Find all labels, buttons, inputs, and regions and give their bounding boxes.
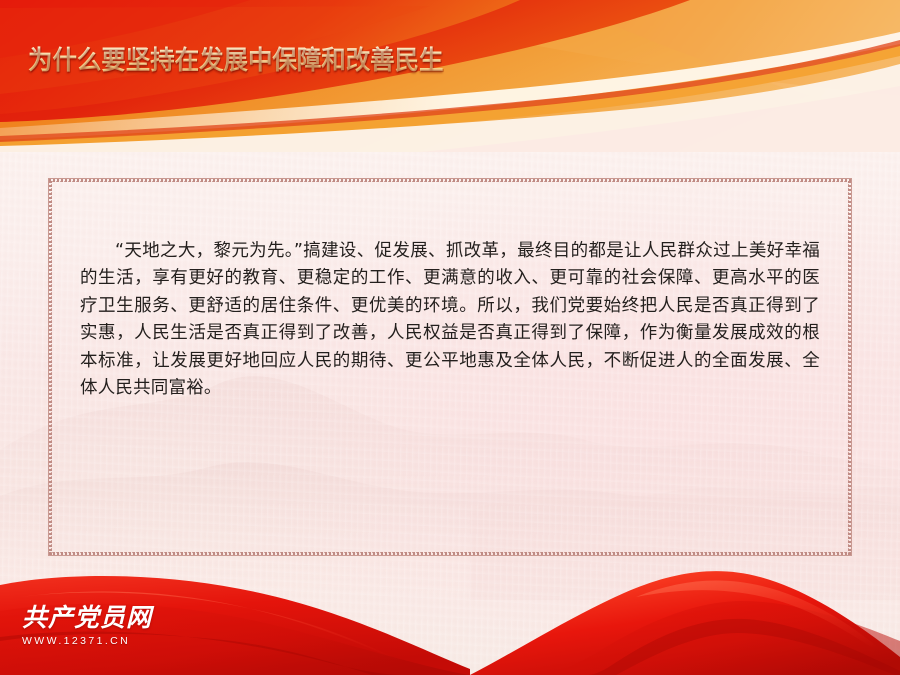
logo-wordmark: 共产党员网: [22, 604, 182, 632]
logo-url: WWW.12371.CN: [22, 635, 182, 647]
site-logo[interactable]: 共产党员网 WWW.12371.CN: [22, 604, 182, 647]
panel-ornament-right: [848, 179, 851, 555]
slide-canvas: 为什么要坚持在发展中保障和改善民生 为什么要坚持在发展中保障和改善民生 “天地之…: [0, 0, 900, 675]
panel-ornament-left: [49, 179, 52, 555]
body-paragraph: “天地之大，黎元为先。”搞建设、促发展、抓改革，最终目的都是让人民群众过上美好幸…: [80, 238, 820, 404]
content-panel: “天地之大，黎元为先。”搞建设、促发展、抓改革，最终目的都是让人民群众过上美好幸…: [48, 178, 852, 556]
footer-silk-waves: 共产党员网 WWW.12371.CN: [0, 545, 900, 675]
panel-ornament-top: [49, 179, 851, 182]
header-banner: 为什么要坚持在发展中保障和改善民生 为什么要坚持在发展中保障和改善民生: [0, 0, 900, 152]
page-title: 为什么要坚持在发展中保障和改善民生: [28, 44, 443, 78]
